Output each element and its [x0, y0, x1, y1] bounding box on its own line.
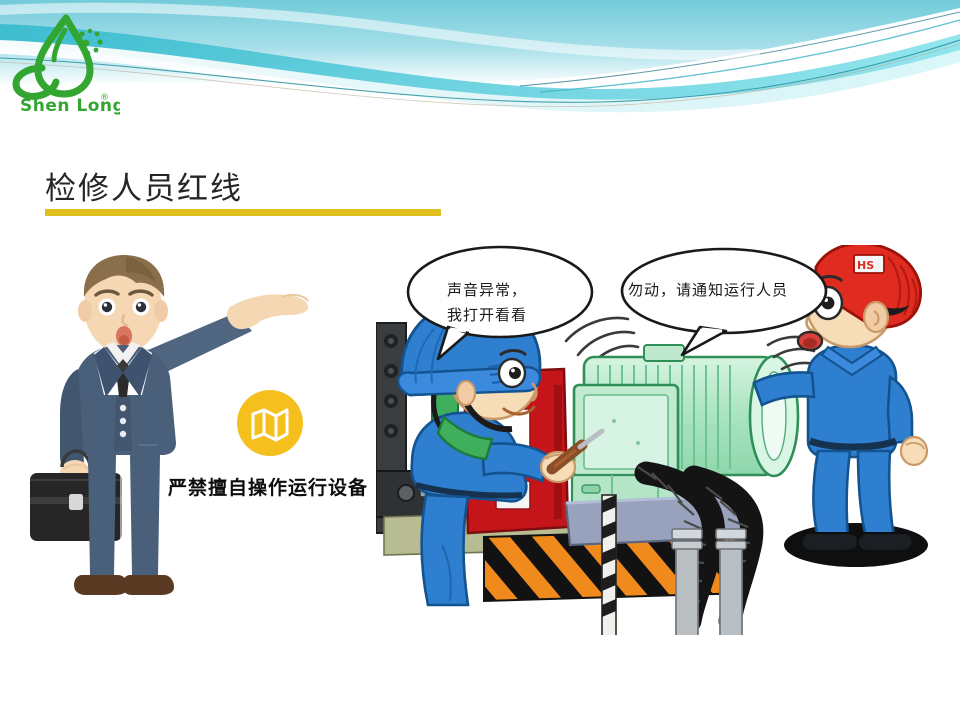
head — [78, 255, 168, 353]
caption-text: 严禁擅自操作运行设备 — [168, 473, 368, 500]
pointing-hand — [227, 295, 308, 330]
shoes — [74, 575, 174, 595]
bubble-1-line-2: 我打开看看 — [447, 303, 527, 328]
water-drop-leaf-icon — [16, 18, 103, 96]
header-banner — [0, 0, 960, 128]
map-badge — [237, 390, 303, 456]
svg-text:HS: HS — [857, 259, 874, 272]
badge-circle — [237, 390, 303, 456]
logo-registered-mark: ® — [100, 93, 109, 103]
title-underline-rule — [45, 209, 441, 216]
brand-logo: Shen Long ® — [8, 12, 120, 116]
legs — [88, 455, 160, 575]
bubble-1-line-1: 声音异常， — [447, 278, 527, 303]
page-title: 检修人员红线 — [45, 163, 243, 208]
slide-canvas: Shen Long ® 检修人员红线 — [0, 0, 960, 720]
bubble-2-line-1: 勿动，请通知运行人员 — [628, 278, 788, 303]
striped-rod — [602, 495, 616, 635]
suit-body — [60, 342, 176, 468]
